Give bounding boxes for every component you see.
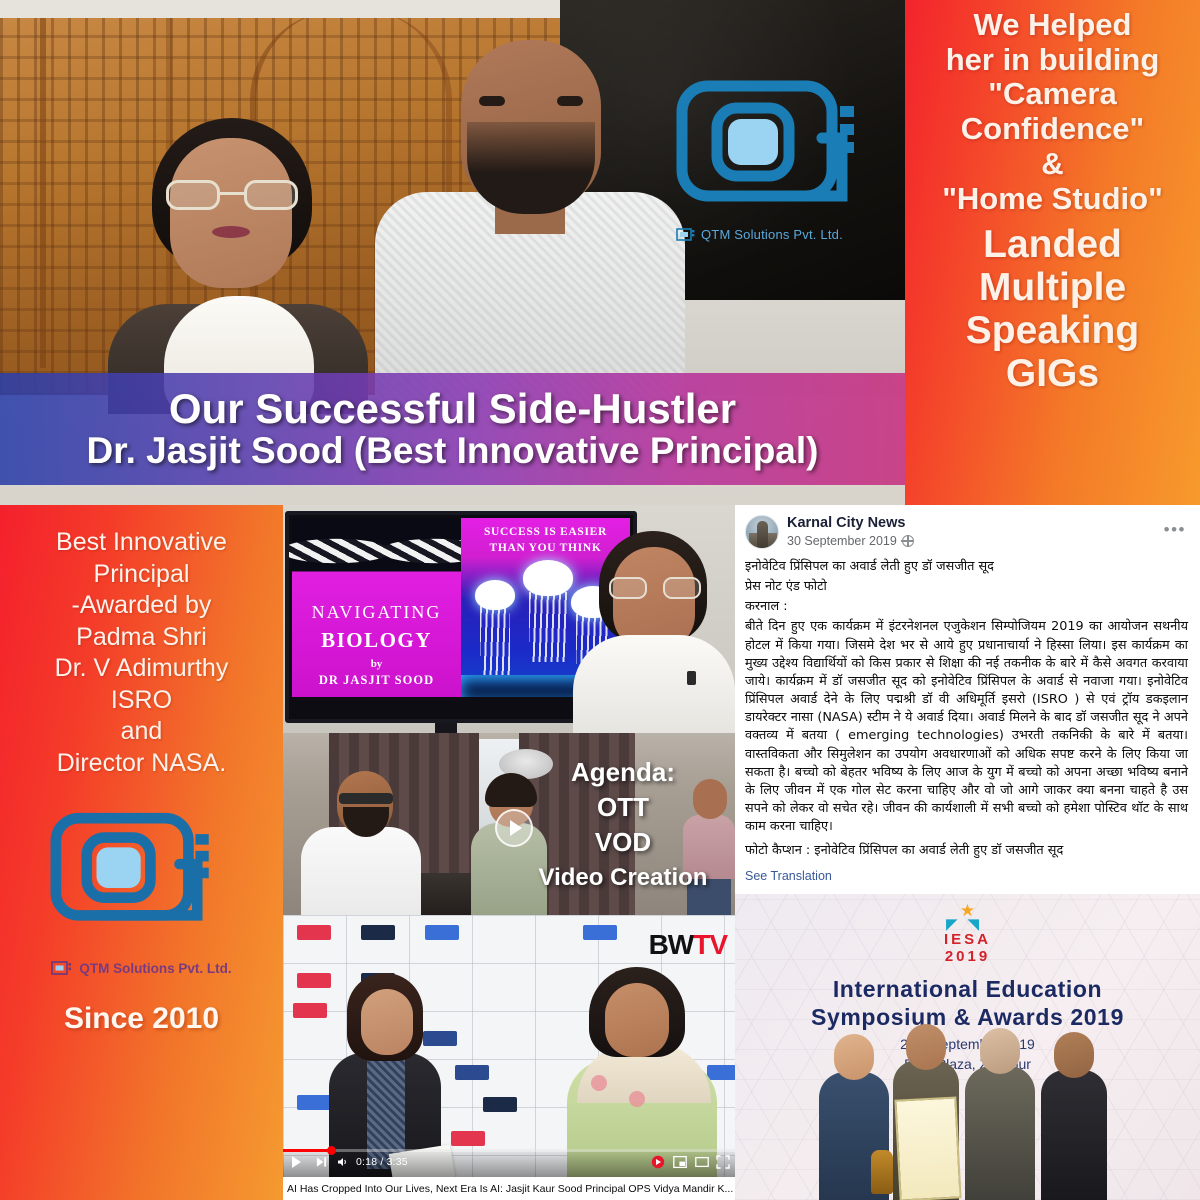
woman-face bbox=[170, 138, 292, 288]
bio-title-1: NAVIGATING bbox=[292, 602, 461, 623]
fabric-flower bbox=[591, 1075, 607, 1091]
lapel-mic-icon bbox=[687, 671, 696, 685]
interviewer-face bbox=[361, 989, 413, 1055]
tr-line-6: "Home Studio" bbox=[942, 182, 1163, 217]
middle-video-column: NAVIGATING BIOLOGY by DR JASJIT SOOD SUC… bbox=[283, 505, 735, 1200]
qtm-mini-mark-icon bbox=[51, 961, 73, 976]
sponsor-logo bbox=[293, 1003, 327, 1018]
bio-title-2: BIOLOGY bbox=[292, 628, 461, 653]
post-city: करनाल : bbox=[745, 598, 1188, 616]
qtm-at-symbol-icon bbox=[672, 78, 887, 243]
award-person-4 bbox=[1041, 1032, 1107, 1200]
sunglasses-icon bbox=[339, 793, 393, 804]
tr-line-3: "Camera bbox=[942, 77, 1163, 112]
speaker-torso bbox=[573, 635, 735, 733]
dna-helix-icon bbox=[285, 520, 462, 582]
qtm-mini-mark-icon bbox=[676, 228, 696, 242]
sponsor-logo bbox=[455, 1065, 489, 1080]
facebook-post: Karnal City News 30 September 2019 ••• इ… bbox=[735, 505, 1200, 894]
sponsor-logo bbox=[361, 925, 395, 940]
video-title-caption[interactable]: AI Has Cropped Into Our Lives, Next Era … bbox=[283, 1177, 735, 1200]
play-icon bbox=[510, 820, 522, 836]
post-photo-caption: फोटो कैप्शन : इनोवेटिव प्रिंसिपल का अवार… bbox=[745, 842, 1188, 860]
progress-scrubber[interactable] bbox=[327, 1146, 336, 1155]
sponsor-logo bbox=[297, 1095, 331, 1110]
facebook-post-header: Karnal City News 30 September 2019 ••• bbox=[745, 515, 1188, 549]
fabric-flower bbox=[629, 1091, 645, 1107]
award-person-3 bbox=[965, 1028, 1035, 1200]
play-icon[interactable] bbox=[292, 1156, 301, 1168]
tv-stand bbox=[435, 723, 457, 733]
video-timestamp: 0:18 / 3:35 bbox=[356, 1156, 408, 1168]
since-label: Since 2010 bbox=[64, 1002, 219, 1036]
award-p4-head bbox=[1054, 1032, 1094, 1078]
top-right-text-panel: We Helped her in building "Camera Confid… bbox=[905, 0, 1200, 505]
facebook-post-date-row: 30 September 2019 bbox=[787, 534, 914, 548]
award-p4-body bbox=[1041, 1070, 1107, 1200]
iesa-logo-text: IESA bbox=[908, 931, 1028, 948]
sponsor-logo bbox=[297, 925, 331, 940]
next-track-icon[interactable] bbox=[316, 1156, 327, 1168]
lp-line-6: ISRO bbox=[55, 685, 229, 717]
bwtv-channel-logo: BWTV bbox=[649, 931, 727, 959]
award-p3-head bbox=[980, 1028, 1020, 1074]
top-right-block-1: We Helped her in building "Camera Confid… bbox=[942, 8, 1163, 216]
tr-line-10: GIGs bbox=[966, 353, 1139, 396]
left-panel-logo-caption-row: QTM Solutions Pvt. Ltd. bbox=[51, 961, 231, 976]
speaker-woman bbox=[565, 531, 735, 733]
facebook-post-date[interactable]: 30 September 2019 bbox=[787, 534, 897, 548]
bwtv-tv-text: TV bbox=[693, 929, 727, 960]
post-paragraph: बीते दिन हुए एक कार्यक्रम में इंटरनेशनल … bbox=[745, 618, 1188, 836]
award-p3-body bbox=[965, 1066, 1035, 1200]
jellyfish-icon bbox=[475, 580, 515, 610]
tr-line-9: Speaking bbox=[966, 310, 1139, 353]
sponsor-logo bbox=[451, 1131, 485, 1146]
lp-line-7: and bbox=[55, 716, 229, 748]
sponsor-logo bbox=[483, 1097, 517, 1112]
left-panel-text: Best Innovative Principal -Awarded by Pa… bbox=[55, 527, 229, 779]
bio-slide-left: NAVIGATING BIOLOGY by DR JASJIT SOOD bbox=[292, 518, 461, 697]
avatar[interactable] bbox=[745, 515, 779, 549]
tr-line-1: We Helped bbox=[942, 8, 1163, 43]
right-column: Karnal City News 30 September 2019 ••• इ… bbox=[735, 505, 1200, 1200]
agenda-video-thumbnail[interactable]: Agenda: OTT VOD Video Creation bbox=[283, 733, 735, 915]
tr-line-2: her in building bbox=[942, 43, 1163, 78]
promo-collage: QTM Solutions Pvt. Ltd. Our Successful S… bbox=[0, 0, 1200, 1200]
theater-mode-icon[interactable] bbox=[695, 1155, 709, 1169]
bio-author: DR JASJIT SOOD bbox=[292, 673, 461, 688]
volume-icon[interactable] bbox=[337, 1156, 349, 1168]
top-row: QTM Solutions Pvt. Ltd. Our Successful S… bbox=[0, 0, 1200, 505]
man-eyes bbox=[479, 96, 583, 106]
agenda-line-3: VOD bbox=[517, 827, 729, 858]
speaker-glasses bbox=[609, 577, 701, 599]
video-player-controls[interactable]: 0:18 / 3:35 bbox=[283, 1149, 735, 1177]
post-headline: इनोवेटिव प्रिंसिपल का अवार्ड लेती हुए डॉ… bbox=[745, 558, 1188, 576]
bwtv-bw-text: BW bbox=[649, 929, 694, 960]
progress-bar-track[interactable] bbox=[283, 1149, 735, 1152]
agenda-line-4: Video Creation bbox=[517, 864, 729, 892]
person-man bbox=[375, 40, 685, 410]
tr-line-5: & bbox=[942, 147, 1163, 182]
agenda-left-body bbox=[301, 827, 421, 915]
trophy-icon bbox=[871, 1150, 893, 1194]
post-subline: प्रेस नोट एंड फोटो bbox=[745, 578, 1188, 596]
agenda-person-left bbox=[301, 771, 421, 915]
woman-lips bbox=[212, 226, 250, 238]
sponsor-logo bbox=[583, 925, 617, 940]
banner-subtitle: Dr. Jasjit Sood (Best Innovative Princip… bbox=[87, 431, 819, 472]
see-translation-link[interactable]: See Translation bbox=[745, 869, 1188, 883]
qtm-logo-caption: QTM Solutions Pvt. Ltd. bbox=[701, 227, 843, 242]
iesa-logo: ★ ◤◥ IESA 2019 bbox=[908, 902, 1028, 965]
agenda-line-1: Agenda: bbox=[517, 757, 729, 788]
lp-line-4: Padma Shri bbox=[55, 622, 229, 654]
tr-line-4: Confidence" bbox=[942, 112, 1163, 147]
iesa-logo-year: 2019 bbox=[908, 948, 1028, 965]
sponsor-logo bbox=[425, 925, 459, 940]
fullscreen-icon[interactable] bbox=[716, 1155, 730, 1169]
person-woman bbox=[108, 118, 368, 408]
award-certificate bbox=[894, 1096, 961, 1200]
globe-icon bbox=[902, 535, 914, 547]
tr-line-8: Multiple bbox=[966, 267, 1139, 310]
lp-line-3: -Awarded by bbox=[55, 590, 229, 622]
bio-by: by bbox=[292, 658, 461, 670]
agenda-overlay-text: Agenda: OTT VOD Video Creation bbox=[517, 757, 729, 892]
man-beard bbox=[467, 122, 595, 214]
facebook-page-name[interactable]: Karnal City News bbox=[787, 515, 914, 532]
award-p1-head bbox=[834, 1034, 874, 1080]
woman-glasses bbox=[166, 180, 298, 210]
progress-bar-fill bbox=[283, 1149, 331, 1152]
award-title-line-2: Symposium & Awards 2019 bbox=[735, 1004, 1200, 1031]
autoplay-icon[interactable] bbox=[651, 1155, 665, 1169]
qtm-logo-hero: QTM Solutions Pvt. Ltd. bbox=[672, 78, 887, 243]
interviewee-face bbox=[605, 983, 669, 1057]
facebook-post-body: इनोवेटिव प्रिंसिपल का अवार्ड लेती हुए डॉ… bbox=[745, 558, 1188, 861]
left-text-panel: Best Innovative Principal -Awarded by Pa… bbox=[0, 505, 283, 1200]
tr-line-7: Landed bbox=[966, 224, 1139, 267]
play-button[interactable] bbox=[495, 809, 533, 847]
ellipsis-icon[interactable]: ••• bbox=[1164, 521, 1186, 538]
award-p2-head bbox=[906, 1024, 946, 1070]
hero-banner: Our Successful Side-Hustler Dr. Jasjit S… bbox=[0, 373, 905, 485]
biology-video-thumbnail[interactable]: NAVIGATING BIOLOGY by DR JASJIT SOOD SUC… bbox=[283, 505, 735, 733]
bwtv-video-player[interactable]: BWTV bbox=[283, 915, 735, 1177]
banner-title: Our Successful Side-Hustler bbox=[169, 387, 736, 431]
interviewer bbox=[329, 973, 441, 1177]
miniplayer-icon[interactable] bbox=[673, 1155, 687, 1169]
hero-photo: QTM Solutions Pvt. Ltd. Our Successful S… bbox=[0, 0, 905, 505]
interviewee bbox=[567, 967, 717, 1177]
lp-line-8: Director NASA. bbox=[55, 748, 229, 780]
left-panel-logo-caption: QTM Solutions Pvt. Ltd. bbox=[79, 961, 231, 976]
qtm-at-symbol-icon bbox=[47, 809, 237, 959]
facebook-post-meta: Karnal City News 30 September 2019 bbox=[787, 515, 914, 548]
lp-line-2: Principal bbox=[55, 559, 229, 591]
top-right-block-2: Landed Multiple Speaking GIGs bbox=[966, 224, 1139, 396]
agenda-line-2: OTT bbox=[517, 792, 729, 823]
sponsor-logo bbox=[297, 973, 331, 988]
lp-line-5: Dr. V Adimurthy bbox=[55, 653, 229, 685]
award-title-line-1: International Education bbox=[735, 976, 1200, 1003]
lp-line-1: Best Innovative bbox=[55, 527, 229, 559]
award-ceremony-photo: ★ ◤◥ IESA 2019 International Education S… bbox=[735, 894, 1200, 1200]
